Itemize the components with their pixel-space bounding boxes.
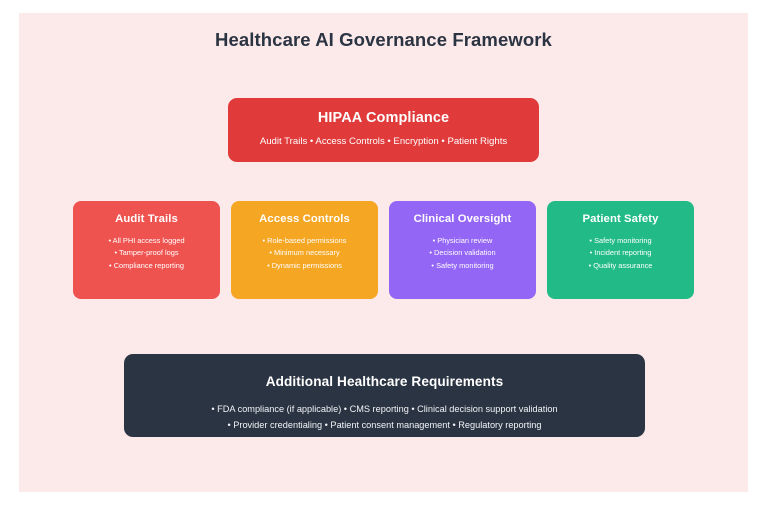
pillar-item: • Decision validation [395,247,530,260]
pillar-item: • All PHI access logged [79,235,214,248]
pillar-card-audit-trails: Audit Trails • All PHI access logged • T… [73,201,220,299]
additional-requirements-list: • FDA compliance (if applicable) • CMS r… [124,401,645,433]
pillar-item-list: • Physician review • Decision validation… [395,235,530,273]
pillar-item: • Safety monitoring [553,235,688,248]
pillar-item: • Compliance reporting [79,260,214,273]
framework-panel: Healthcare AI Governance Framework HIPAA… [19,13,748,492]
additional-requirements-panel: Additional Healthcare Requirements • FDA… [124,354,645,437]
pillar-item: • Incident reporting [553,247,688,260]
pillar-card-patient-safety: Patient Safety • Safety monitoring • Inc… [547,201,694,299]
pillar-item-list: • Safety monitoring • Incident reporting… [553,235,688,273]
pillar-item: • Physician review [395,235,530,248]
pillar-item: • Minimum necessary [237,247,372,260]
pillar-item: • Safety monitoring [395,260,530,273]
hipaa-compliance-banner: HIPAA Compliance Audit Trails • Access C… [228,98,539,162]
additional-requirements-line: • FDA compliance (if applicable) • CMS r… [124,401,645,417]
pillar-title: Clinical Oversight [395,213,530,227]
pillar-card-access-controls: Access Controls • Role-based permissions… [231,201,378,299]
pillar-title: Access Controls [237,213,372,227]
pillar-item-list: • All PHI access logged • Tamper-proof l… [79,235,214,273]
pillar-title: Audit Trails [79,213,214,227]
pillar-title: Patient Safety [553,213,688,227]
governance-pillars-row: Audit Trails • All PHI access logged • T… [73,201,694,299]
pillar-item: • Quality assurance [553,260,688,273]
hipaa-banner-title: HIPAA Compliance [228,110,539,127]
page-title: Healthcare AI Governance Framework [19,29,748,51]
additional-requirements-title: Additional Healthcare Requirements [124,374,645,390]
pillar-item: • Role-based permissions [237,235,372,248]
pillar-card-clinical-oversight: Clinical Oversight • Physician review • … [389,201,536,299]
pillar-item: • Dynamic permissions [237,260,372,273]
pillar-item: • Tamper-proof logs [79,247,214,260]
additional-requirements-line: • Provider credentialing • Patient conse… [124,417,645,433]
hipaa-banner-subtitle: Audit Trails • Access Controls • Encrypt… [228,136,539,148]
pillar-item-list: • Role-based permissions • Minimum neces… [237,235,372,273]
